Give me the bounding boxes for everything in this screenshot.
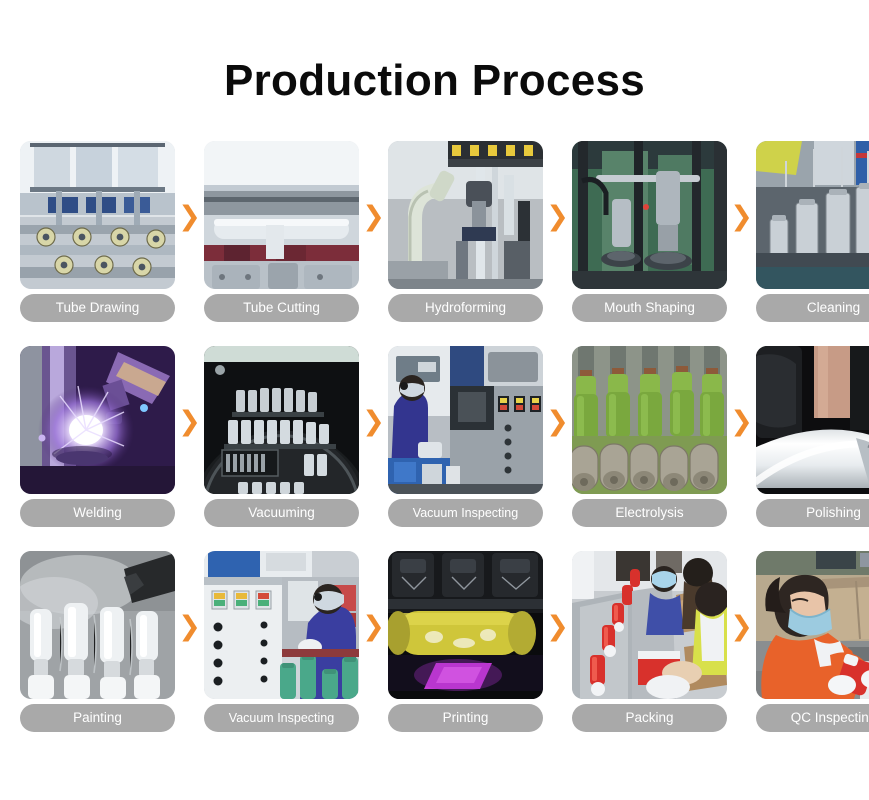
process-step-vacuum-inspecting[interactable]: Vacuum Inspecting bbox=[388, 346, 543, 527]
hydroforming-photo bbox=[388, 141, 543, 289]
process-step-cleaning[interactable]: Cleaning bbox=[756, 141, 869, 322]
packing-photo bbox=[572, 551, 727, 699]
step-label: QC Inspecting bbox=[756, 704, 869, 732]
step-label: Tube Drawing bbox=[20, 294, 175, 322]
flow-arrow-icon: ❯ bbox=[359, 613, 388, 640]
tube-cutting-photo bbox=[204, 141, 359, 289]
cleaning-photo bbox=[756, 141, 869, 289]
electrolysis-photo bbox=[572, 346, 727, 494]
vacuum-inspecting-photo bbox=[388, 346, 543, 494]
process-step-packing[interactable]: Packing bbox=[572, 551, 727, 732]
flow-arrow-icon: ❯ bbox=[359, 408, 388, 435]
step-label: Vacuum Inspecting bbox=[204, 704, 359, 732]
vacuuming-photo bbox=[204, 346, 359, 494]
step-label: Vacuuming bbox=[204, 499, 359, 527]
flow-arrow-icon: ❯ bbox=[175, 408, 204, 435]
flow-arrow-icon: ❯ bbox=[359, 203, 388, 230]
process-step-vacuuming[interactable]: Vacuuming bbox=[204, 346, 359, 527]
process-step-polishing[interactable]: Polishing bbox=[756, 346, 869, 527]
flow-arrow-icon: ❯ bbox=[175, 203, 204, 230]
flow-arrow-icon: ❯ bbox=[727, 408, 756, 435]
polishing-photo bbox=[756, 346, 869, 494]
flow-arrow-icon: ❯ bbox=[543, 203, 572, 230]
step-label: Electrolysis bbox=[572, 499, 727, 527]
process-row: Painting ❯ bbox=[20, 551, 849, 735]
flow-arrow-icon: ❯ bbox=[727, 613, 756, 640]
process-row: Welding ❯ bbox=[20, 346, 849, 530]
process-step-qc-inspecting[interactable]: QC Inspecting bbox=[756, 551, 869, 732]
painting-photo bbox=[20, 551, 175, 699]
qc-inspecting-photo bbox=[756, 551, 869, 699]
step-label: Welding bbox=[20, 499, 175, 527]
process-step-printing[interactable]: Printing bbox=[388, 551, 543, 732]
process-step-mouth-shaping[interactable]: Mouth Shaping bbox=[572, 141, 727, 322]
step-label: Cleaning bbox=[756, 294, 869, 322]
process-grid: Tube Drawing ❯ bbox=[20, 141, 849, 735]
process-step-painting[interactable]: Painting bbox=[20, 551, 175, 732]
flow-arrow-icon: ❯ bbox=[543, 613, 572, 640]
flow-arrow-icon: ❯ bbox=[727, 203, 756, 230]
process-step-electrolysis[interactable]: Electrolysis bbox=[572, 346, 727, 527]
step-label: Printing bbox=[388, 704, 543, 732]
page-title: Production Process bbox=[0, 0, 869, 110]
step-label: Painting bbox=[20, 704, 175, 732]
process-step-tube-cutting[interactable]: Tube Cutting bbox=[204, 141, 359, 322]
step-label: Vacuum Inspecting bbox=[388, 499, 543, 527]
printing-photo bbox=[388, 551, 543, 699]
step-label: Packing bbox=[572, 704, 727, 732]
process-step-vacuum-inspecting-2[interactable]: Vacuum Inspecting bbox=[204, 551, 359, 732]
process-row: Tube Drawing ❯ bbox=[20, 141, 849, 325]
step-label: Tube Cutting bbox=[204, 294, 359, 322]
mouth-shaping-photo bbox=[572, 141, 727, 289]
vacuum-inspecting-2-photo bbox=[204, 551, 359, 699]
step-label: Polishing bbox=[756, 499, 869, 527]
flow-arrow-icon: ❯ bbox=[543, 408, 572, 435]
step-label: Mouth Shaping bbox=[572, 294, 727, 322]
process-step-welding[interactable]: Welding bbox=[20, 346, 175, 527]
process-step-tube-drawing[interactable]: Tube Drawing bbox=[20, 141, 175, 322]
step-label: Hydroforming bbox=[388, 294, 543, 322]
welding-photo bbox=[20, 346, 175, 494]
tube-drawing-photo bbox=[20, 141, 175, 289]
flow-arrow-icon: ❯ bbox=[175, 613, 204, 640]
process-step-hydroforming[interactable]: Hydroforming bbox=[388, 141, 543, 322]
